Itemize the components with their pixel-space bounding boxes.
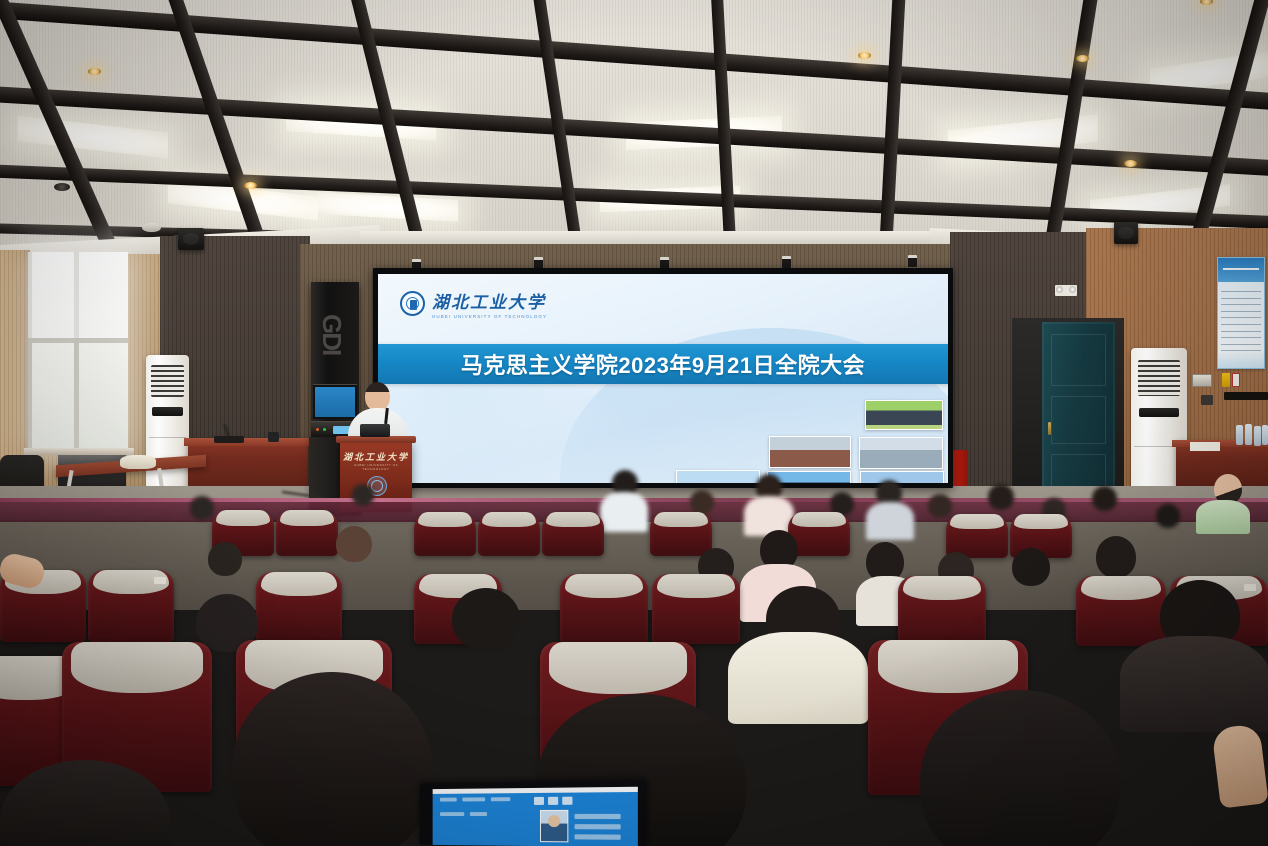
screen-photo-group: [865, 400, 943, 430]
podium-top: [336, 436, 416, 443]
door-handle[interactable]: [1048, 422, 1051, 435]
ceiling-downlight: [1124, 160, 1137, 167]
wall-speaker: [1114, 222, 1138, 244]
led-screen: 湖北工业大学 HUBEI UNIVERSITY OF TECHNOLOGY 马克…: [378, 274, 948, 483]
no-smoking-sign: [1232, 373, 1240, 387]
screen-title-band: 马克思主义学院2023年9月21日全院大会: [378, 344, 948, 384]
screen-photo-building-modern: [859, 437, 943, 469]
wall-spotlight: [908, 255, 917, 267]
ceiling-downlight: [858, 52, 871, 59]
ceiling-downlight: [244, 182, 257, 189]
safety-poster: [1217, 257, 1265, 369]
desk-equipment: [214, 436, 244, 443]
laptop-on-podium: [360, 424, 390, 437]
wall-spotlight: [782, 256, 791, 268]
water-bottle: [1245, 424, 1252, 445]
wall-socket: [1201, 395, 1213, 405]
wall-trim: [1224, 392, 1268, 400]
screen-logo-en: HUBEI UNIVERSITY OF TECHNOLOGY: [432, 314, 547, 319]
ceiling-downlight: [54, 183, 70, 191]
wall-speaker: [178, 228, 204, 250]
wall-panel: [1192, 374, 1212, 387]
auditorium-photo: 湖北工业大学 HUBEI UNIVERSITY OF TECHNOLOGY 马克…: [0, 0, 1268, 846]
water-bottle: [1254, 426, 1261, 446]
window-sill: [24, 448, 134, 455]
water-bottle: [1236, 425, 1243, 445]
attendee-right-side: [1196, 474, 1256, 532]
ceiling-downlight: [1076, 55, 1089, 62]
smoke-detector: [142, 223, 161, 232]
laptop-id-photo: [540, 810, 568, 842]
water-bottle: [1262, 425, 1268, 445]
ceiling-downlight: [88, 68, 101, 75]
warning-sign: [1222, 373, 1230, 387]
window: [28, 252, 128, 452]
rack-brand: GDI: [316, 314, 347, 354]
screen-logo-cn: 湖北工业大学: [432, 288, 547, 313]
screen-logo: 湖北工业大学 HUBEI UNIVERSITY OF TECHNOLOGY: [400, 288, 547, 319]
attendee-body: [1196, 500, 1250, 534]
podium-label-cn: 湖北工业大学: [340, 450, 412, 463]
desk-equipment: [268, 432, 279, 442]
university-seal-icon: [400, 291, 425, 316]
laptop-screen: [433, 787, 638, 846]
presenter-head: [365, 382, 390, 411]
cloth-on-table: [120, 455, 156, 469]
screen-title: 马克思主义学院2023年9月21日全院大会: [461, 348, 865, 380]
screen-photo-building-red: [769, 436, 851, 468]
laptop[interactable]: [414, 782, 642, 846]
document-on-desk: [1190, 442, 1220, 451]
emergency-light: [1055, 285, 1077, 296]
